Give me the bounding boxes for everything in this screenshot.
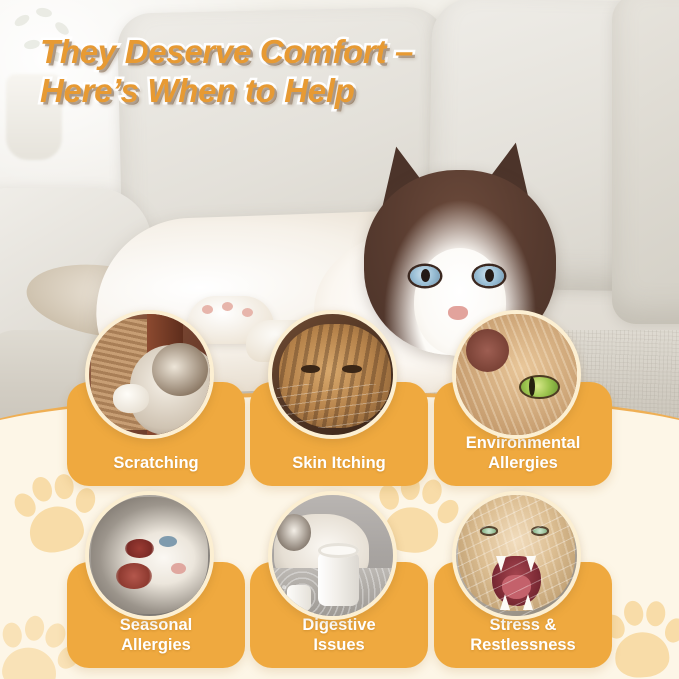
card-label: Seasonal Allergies: [67, 615, 245, 655]
card-label-line2: Allergies: [121, 636, 191, 654]
card-label-line2: Issues: [313, 636, 364, 654]
symptom-image-skin-itching[interactable]: [268, 310, 397, 439]
card-label: Skin Itching: [250, 453, 428, 473]
card-label: Scratching: [67, 453, 245, 473]
symptom-image-stress-restlessness[interactable]: [452, 491, 581, 620]
symptom-image-digestive-issues[interactable]: [268, 491, 397, 620]
card-label: Digestive Issues: [250, 615, 428, 655]
title-line-1: They Deserve Comfort –: [40, 32, 600, 71]
card-label: Environmental Allergies: [434, 433, 612, 473]
poster-title: They Deserve Comfort – Here’s When to He…: [40, 32, 600, 110]
symptom-image-seasonal-allergies[interactable]: [85, 491, 214, 620]
card-label-line2: Allergies: [488, 454, 558, 472]
title-line-2: Here’s When to Help: [40, 71, 600, 110]
symptom-image-environmental-allergies[interactable]: [452, 310, 581, 439]
infographic-poster: They Deserve Comfort – Here’s When to He…: [0, 0, 679, 679]
symptom-image-scratching[interactable]: [85, 310, 214, 439]
card-label: Stress & Restlessness: [434, 615, 612, 655]
card-label-line2: Restlessness: [470, 636, 576, 654]
